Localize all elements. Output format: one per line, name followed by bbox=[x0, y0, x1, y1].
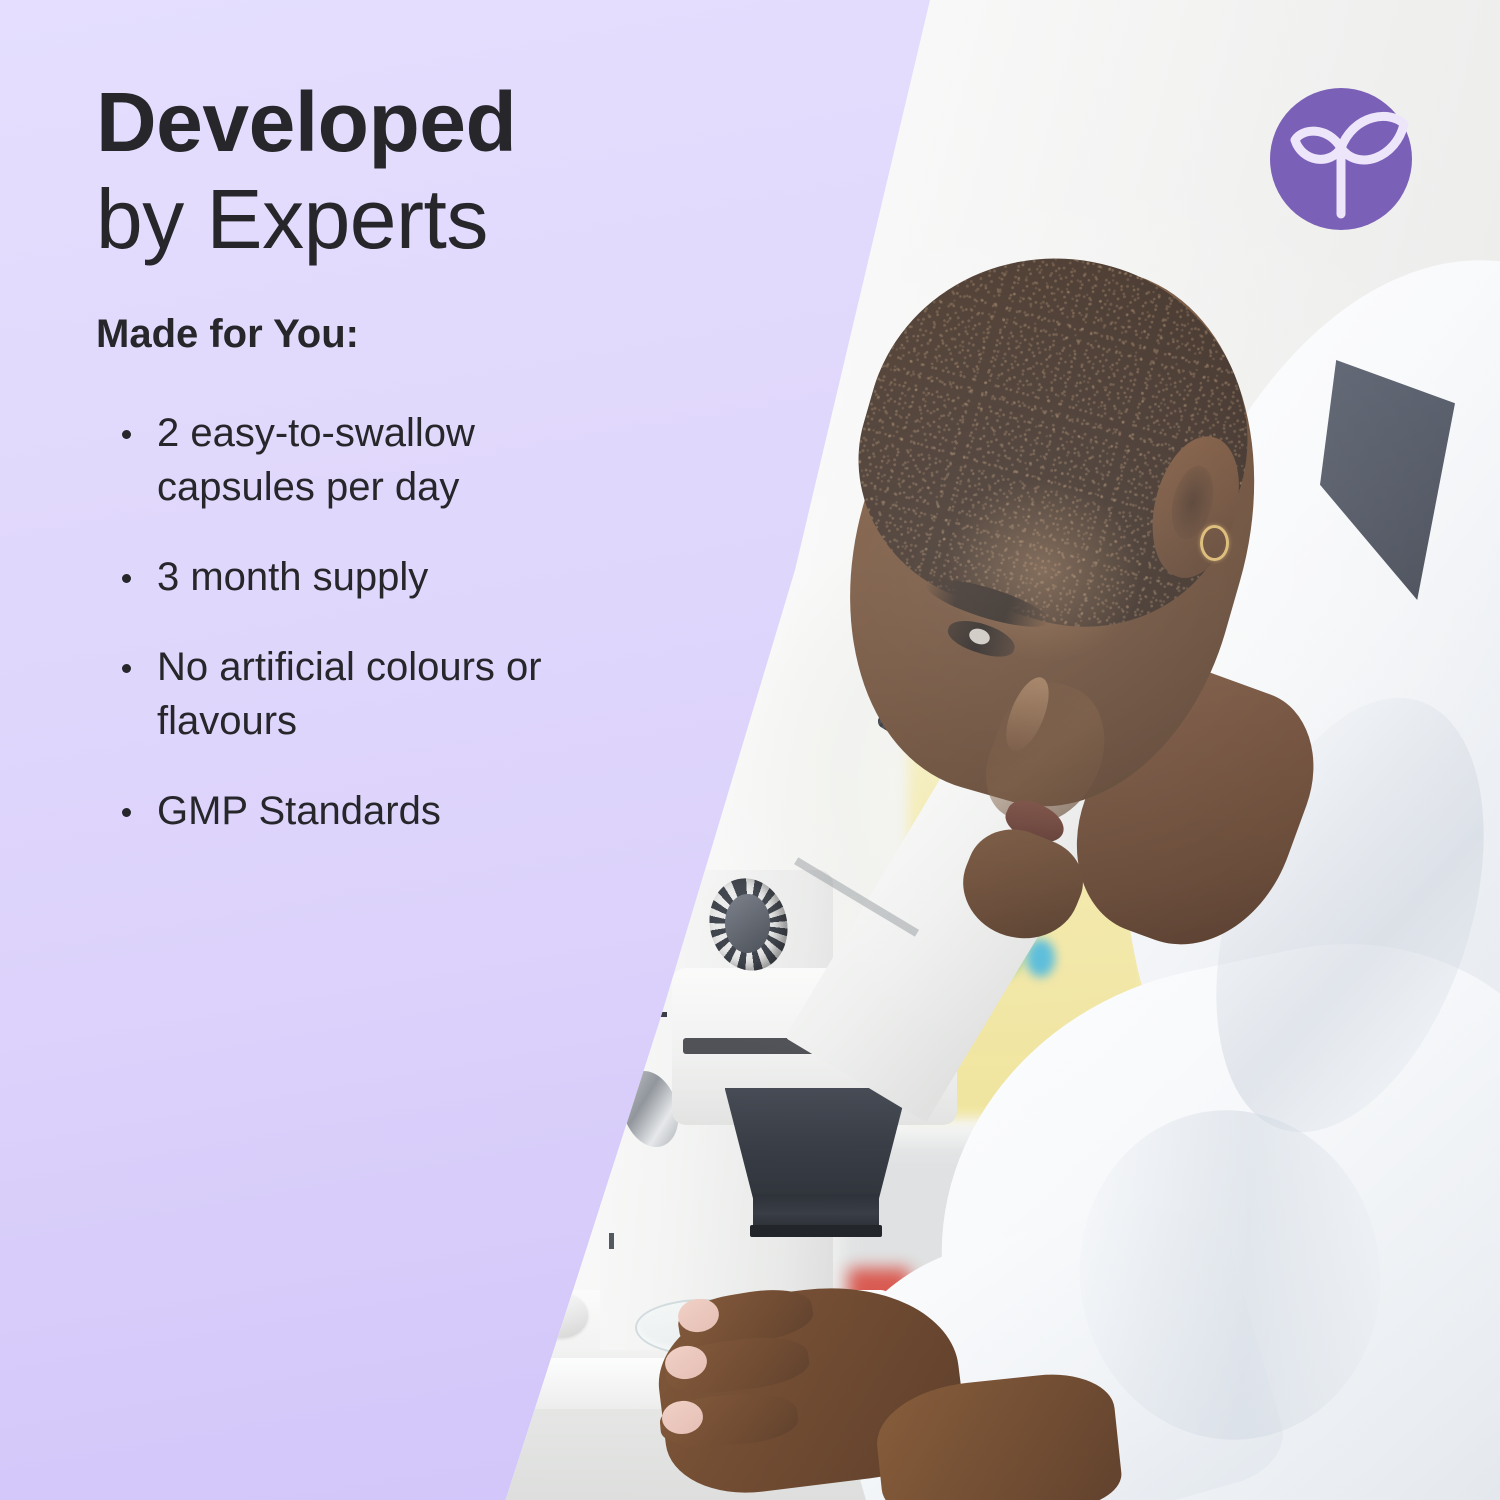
list-item: 2 easy-to-swallow capsules per day bbox=[96, 406, 596, 514]
sprout-logo-icon bbox=[1268, 86, 1414, 232]
promo-card: Developed by Experts Made for You: 2 eas… bbox=[0, 0, 1500, 1500]
microscope-illumination-knob bbox=[609, 1043, 645, 1073]
promo-content: Developed by Experts Made for You: 2 eas… bbox=[96, 74, 716, 874]
microscope-lower-lens bbox=[557, 1171, 602, 1198]
list-item: No artificial colours or flavours bbox=[96, 640, 596, 748]
headline-line-1: Developed bbox=[96, 74, 716, 170]
subheading: Made for You: bbox=[96, 310, 716, 358]
microscope-tick-mark-left bbox=[567, 1233, 572, 1250]
list-item: 3 month supply bbox=[96, 550, 596, 604]
page-title: Developed by Experts bbox=[96, 74, 716, 268]
brand-logo-badge bbox=[1268, 86, 1414, 232]
headline-line-2: by Experts bbox=[96, 170, 716, 268]
scientist-earring bbox=[1200, 525, 1229, 561]
benefits-list: 2 easy-to-swallow capsules per day 3 mon… bbox=[96, 406, 716, 838]
list-item: GMP Standards bbox=[96, 784, 596, 838]
scientist-chin bbox=[948, 814, 1096, 955]
